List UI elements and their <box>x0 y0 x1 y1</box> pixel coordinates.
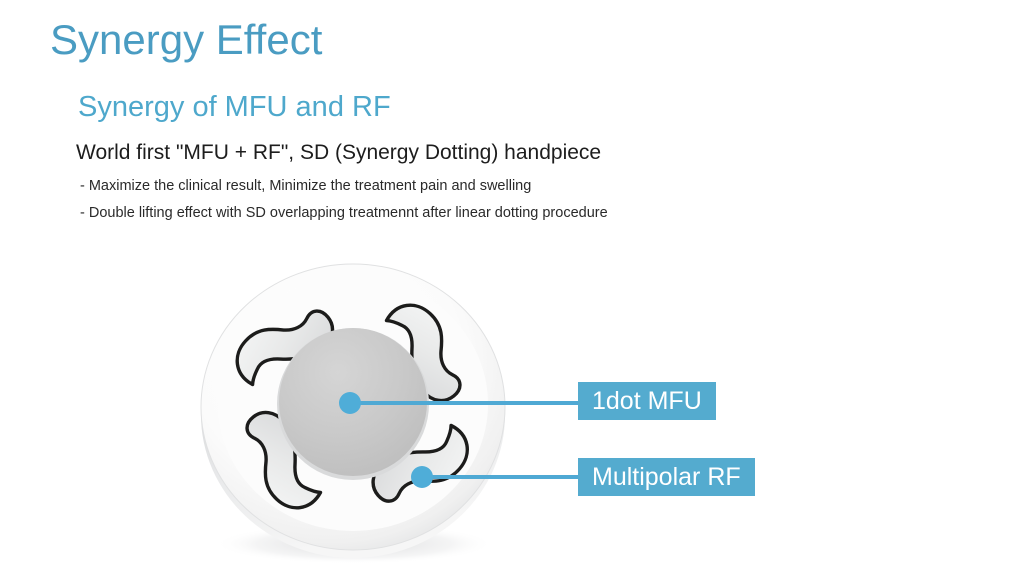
center-transducer <box>277 328 429 480</box>
page-title: Synergy Effect <box>50 16 322 64</box>
page-subtitle: Synergy of MFU and RF <box>78 90 391 125</box>
list-item: - Maximize the clinical result, Minimize… <box>80 179 840 194</box>
bullet-list: - Maximize the clinical result, Minimize… <box>80 179 840 233</box>
slide-root: Synergy Effect Synergy of MFU and RF Wor… <box>0 0 1024 588</box>
lead-statement: World first "MFU + RF", SD (Synergy Dott… <box>76 140 601 166</box>
callout-label-1dot-mfu[interactable]: 1dot MFU <box>578 382 716 420</box>
list-item: - Double lifting effect with SD overlapp… <box>80 206 840 221</box>
callout-label-multipolar-rf[interactable]: Multipolar RF <box>578 458 755 496</box>
device-illustration <box>190 252 530 562</box>
